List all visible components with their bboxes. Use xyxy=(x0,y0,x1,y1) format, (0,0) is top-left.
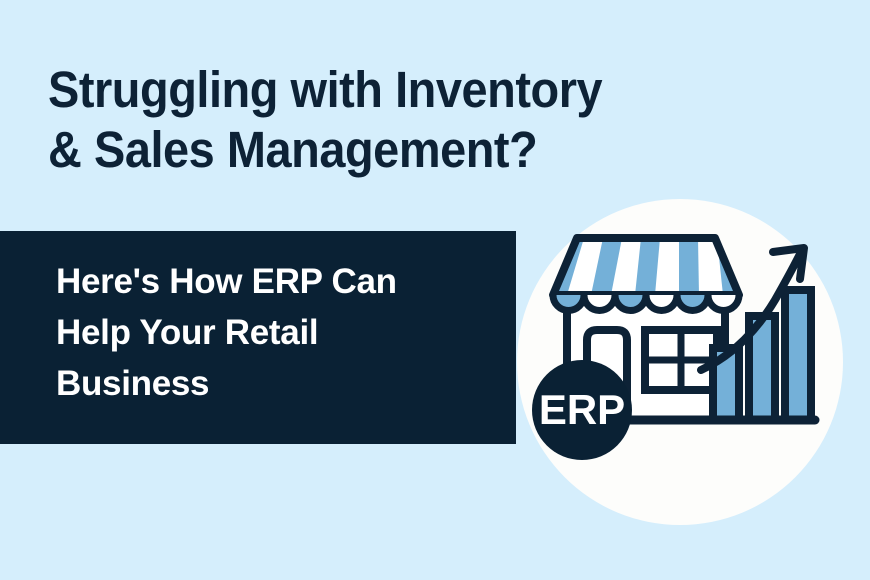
erp-badge-label: ERP xyxy=(539,386,625,433)
erp-retail-illustration: ERP xyxy=(505,190,855,540)
subheading-line-3: Business xyxy=(56,358,397,409)
erp-badge: ERP xyxy=(532,360,632,460)
page-title: Struggling with Inventory & Sales Manage… xyxy=(48,60,710,180)
subheading-band: Here's How ERP Can Help Your Retail Busi… xyxy=(0,231,516,444)
subheading-text: Here's How ERP Can Help Your Retail Busi… xyxy=(56,256,397,409)
chart-bar-3 xyxy=(785,290,811,420)
subheading-line-1: Here's How ERP Can xyxy=(56,256,397,307)
headline-line-1: Struggling with Inventory xyxy=(48,60,710,120)
store-window xyxy=(645,330,717,390)
headline-line-2: & Sales Management? xyxy=(48,120,710,180)
store-awning xyxy=(545,230,745,311)
banner-canvas: Struggling with Inventory & Sales Manage… xyxy=(0,0,870,580)
subheading-line-2: Help Your Retail xyxy=(56,307,397,358)
